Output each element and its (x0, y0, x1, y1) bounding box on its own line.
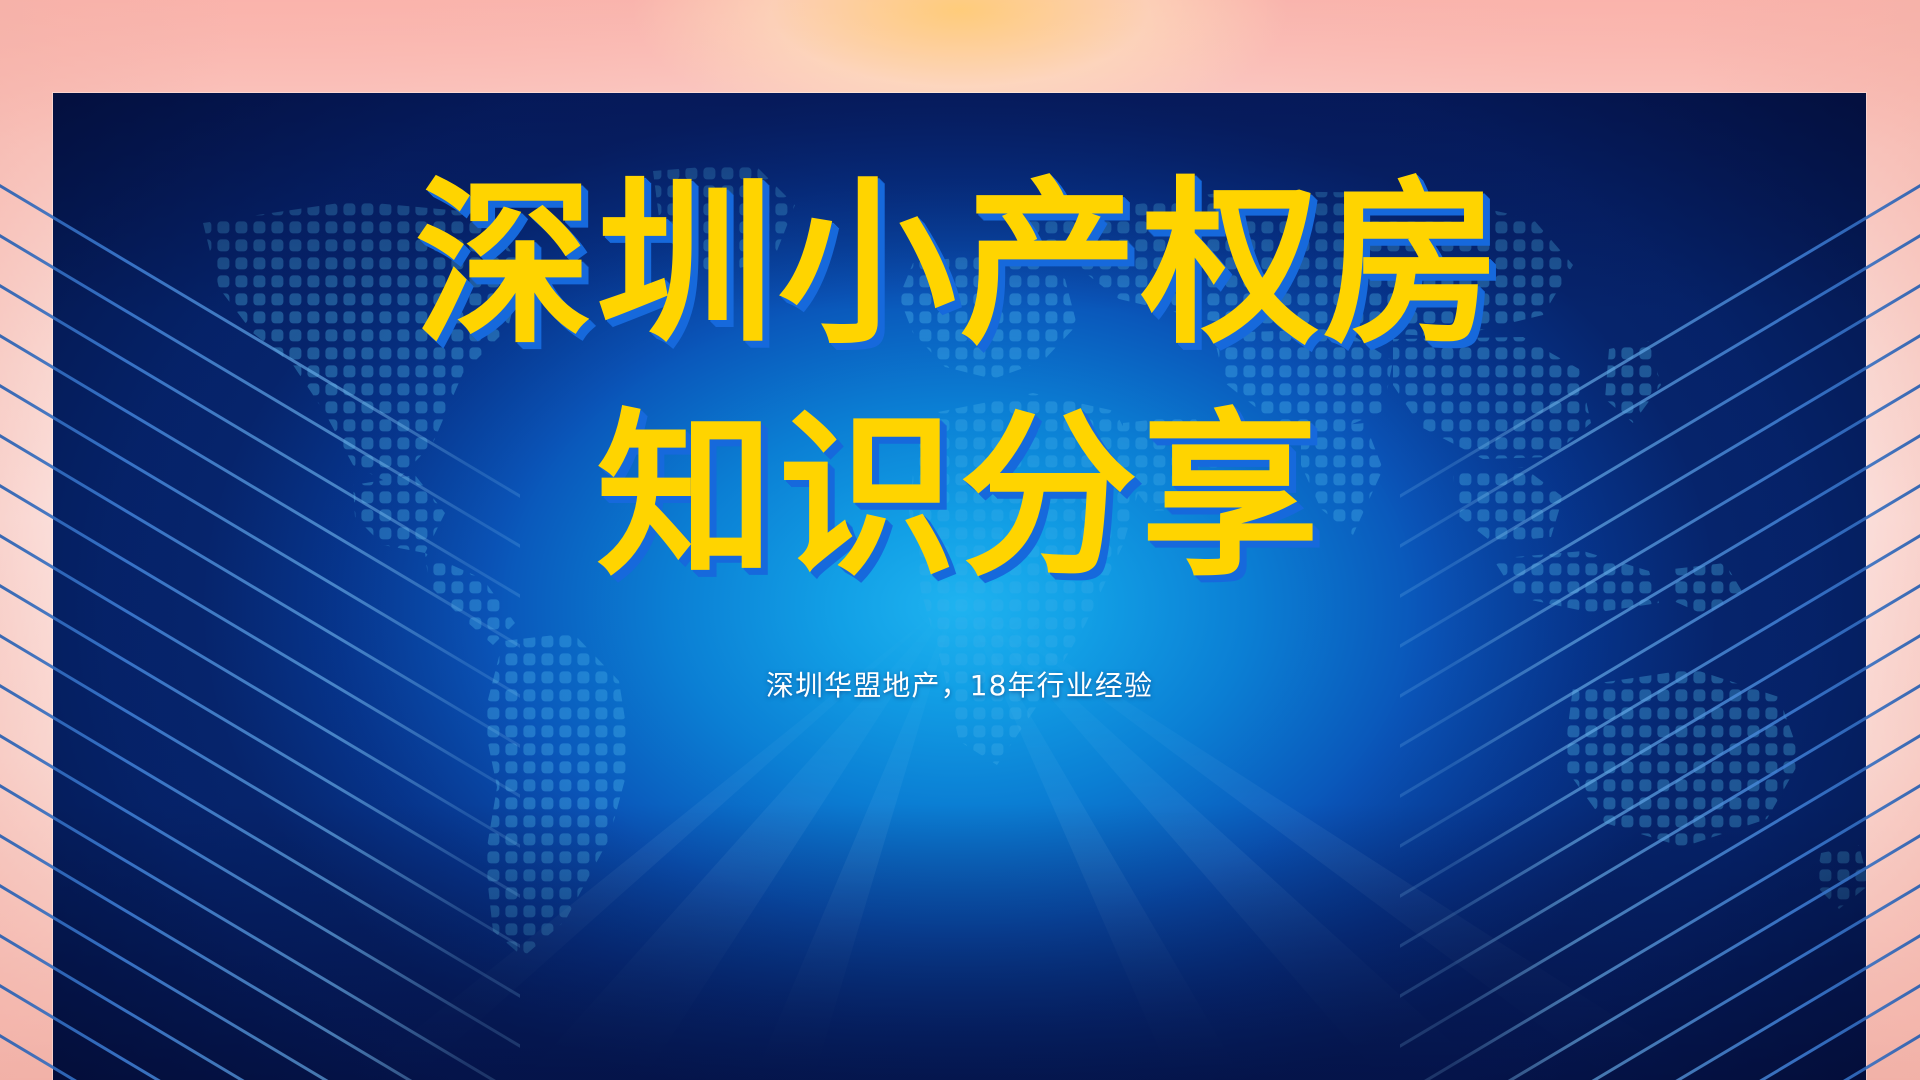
slide-subtitle: 深圳华盟地产，18年行业经验 (766, 664, 1153, 704)
slide-title-line-1: 深圳小产权房 (415, 176, 1504, 354)
main-blue-panel: 深圳小产权房 知识分享 深圳华盟地产，18年行业经验 (53, 93, 1866, 1080)
slide-canvas: 深圳小产权房 知识分享 深圳华盟地产，18年行业经验 (0, 0, 1920, 1080)
slide-title-line-2: 知识分享 (596, 408, 1322, 586)
slide-content: 深圳小产权房 知识分享 深圳华盟地产，18年行业经验 (53, 93, 1866, 1080)
